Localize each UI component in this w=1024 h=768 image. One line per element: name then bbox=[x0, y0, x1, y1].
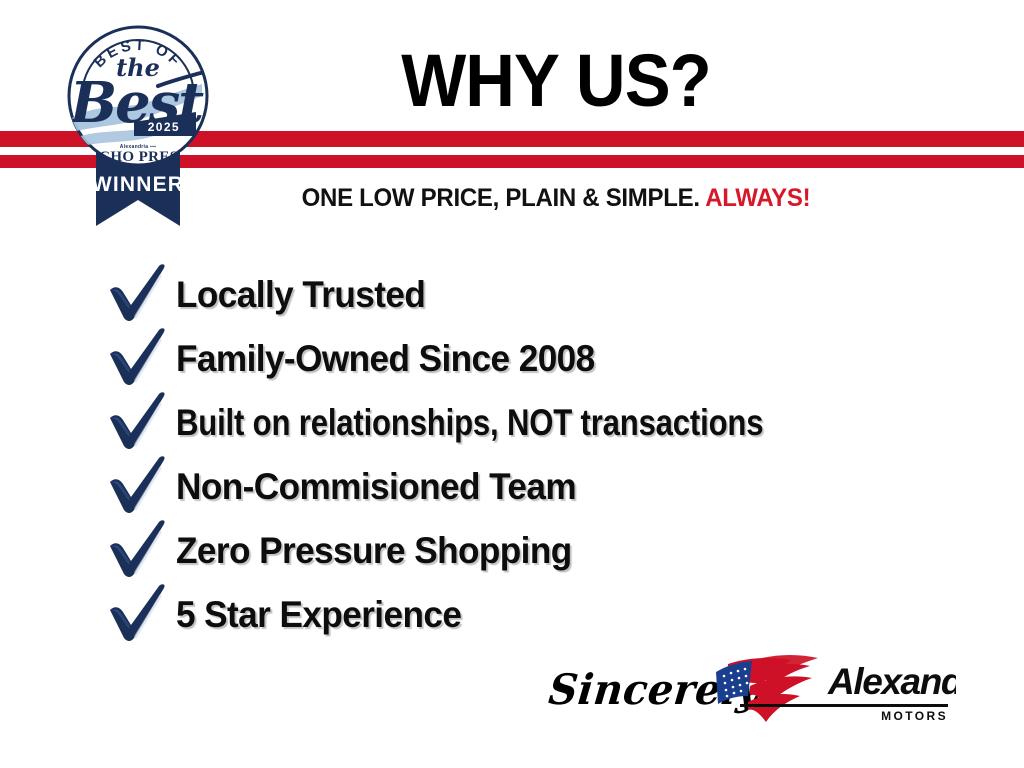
checkmark-icon bbox=[104, 584, 176, 644]
svg-text:2025: 2025 bbox=[148, 120, 180, 134]
list-item-label: Zero Pressure Shopping bbox=[176, 532, 572, 569]
list-item-label: Non-Commisioned Team bbox=[176, 468, 576, 505]
checkmark-icon bbox=[104, 328, 176, 388]
list-item-label: Family-Owned Since 2008 bbox=[176, 340, 595, 377]
winner-label: WINNER bbox=[92, 173, 184, 196]
list-item: 5 Star Experience bbox=[104, 582, 1004, 646]
list-item: Non-Commisioned Team bbox=[104, 454, 1004, 518]
tagline: ONE LOW PRICE, PLAIN & SIMPLE. ALWAYS! bbox=[249, 184, 863, 213]
page-title: WHY US? bbox=[258, 44, 853, 118]
slide-canvas: WHY US? ONE LOW PRICE, PLAIN & SIMPLE. A… bbox=[0, 0, 1024, 768]
list-item: Locally Trusted bbox=[104, 262, 1004, 326]
list-item: Zero Pressure Shopping bbox=[104, 518, 1004, 582]
brand-name: Alexandria bbox=[827, 661, 956, 702]
list-item-label: Built on relationships, NOT transactions bbox=[176, 404, 763, 441]
best-of-the-best-badge: BEST OF the Best 2025 Alexandria ▪▪▪ ECH… bbox=[62, 14, 214, 232]
tagline-accent: ALWAYS! bbox=[705, 184, 810, 212]
checkmark-icon bbox=[104, 264, 176, 324]
tagline-main: ONE LOW PRICE, PLAIN & SIMPLE. bbox=[302, 184, 700, 212]
usa-flag-icon bbox=[716, 655, 818, 722]
list-item-label: 5 Star Experience bbox=[176, 596, 461, 633]
brand-subtitle: MOTORS bbox=[881, 709, 948, 723]
checkmark-icon bbox=[104, 392, 176, 452]
checkmark-icon bbox=[104, 456, 176, 516]
checkmark-icon bbox=[104, 520, 176, 580]
list-item: Built on relationships, NOT transactions bbox=[104, 390, 1004, 454]
list-item-label: Locally Trusted bbox=[176, 276, 425, 313]
benefits-list: Locally Trusted Family-Owned Since 2008 bbox=[104, 262, 1004, 646]
alexandria-motors-logo: Alexandria MOTORS bbox=[706, 652, 956, 730]
list-item: Family-Owned Since 2008 bbox=[104, 326, 1004, 390]
